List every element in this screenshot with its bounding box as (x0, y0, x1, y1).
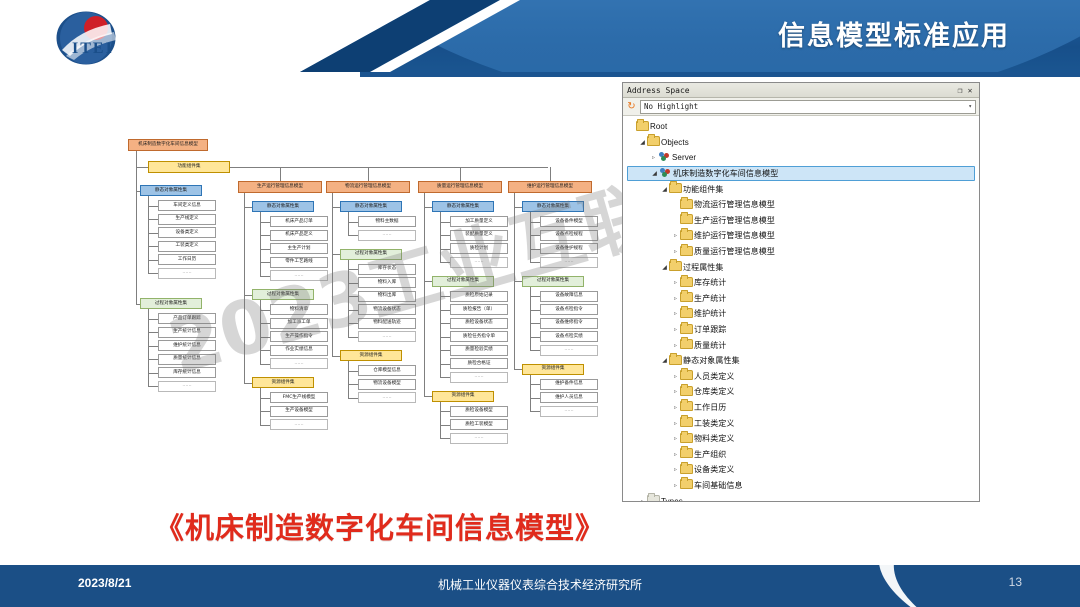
diagram-leaf-node: 质检计划 (450, 243, 508, 254)
connector-line (148, 206, 158, 207)
folder-icon (680, 292, 692, 304)
tree-row-label: 工作日历 (692, 402, 726, 413)
diagram-module-node: 物流运行管理信息模型 (326, 181, 410, 193)
folder-icon (680, 339, 692, 351)
address-space-panel: Address Space ❐ ✕ ↻ No Highlight ▾ Root◢… (622, 82, 980, 502)
connector-line (148, 386, 158, 387)
expander-closed-icon[interactable]: ▹ (671, 326, 680, 333)
tree-row[interactable]: ▹Types (627, 493, 977, 501)
float-icon[interactable]: ❐ (955, 86, 965, 95)
expander-closed-icon[interactable]: ▹ (649, 154, 658, 161)
connector-line (348, 337, 358, 338)
tree-row-label: 车间基础信息 (692, 480, 743, 491)
tree-row-label: 生产统计 (692, 293, 726, 304)
tree-row-label: 功能组件集 (681, 184, 724, 195)
tree-row[interactable]: ▹质量统计 (627, 337, 977, 353)
tree-row-label: 静态对象属性集 (681, 355, 740, 366)
folder-icon (680, 433, 692, 445)
diagram-leaf-node: 库存状态 (358, 264, 416, 275)
diagram-leaf-node: 产品订单跟踪 (158, 313, 216, 324)
folder-icon (636, 121, 648, 133)
tree-row[interactable]: ▹物料类定义 (627, 431, 977, 447)
folder-icon (680, 308, 692, 320)
connector-line (424, 207, 432, 208)
diagram-resource-group: 资源组件集 (340, 350, 402, 361)
connector-line (530, 323, 540, 324)
connector-line (348, 260, 349, 337)
folder-icon (680, 464, 692, 476)
connector-line (514, 281, 522, 282)
diagram-process-group: 过程对象属性集 (522, 276, 584, 287)
expander-open-icon[interactable]: ◢ (660, 186, 669, 193)
connector-line (348, 361, 349, 398)
expander-closed-icon[interactable]: ▹ (671, 279, 680, 286)
diagram-leaf-node: 工装类定义 (158, 241, 216, 252)
tree-row-label: 机床制造数字化车间信息模型 (671, 168, 778, 179)
connector-line (148, 260, 158, 261)
tree-row[interactable]: ▹工作日历 (627, 400, 977, 416)
diagram-node-ellipsis: …… (450, 433, 508, 444)
connector-line (260, 425, 270, 426)
tree-row-label: Objects (659, 138, 689, 147)
connector-line (260, 276, 270, 277)
connector-line (348, 398, 358, 399)
object-node-icon (658, 152, 670, 163)
connector-line (530, 287, 531, 351)
connector-line (348, 296, 358, 297)
connector-line (530, 375, 531, 412)
connector-line (260, 350, 270, 351)
folder-icon (680, 230, 692, 242)
information-model-diagram: 机床制造数字化车间信息模型功能组件集静态对象属性集车间定义信息生产线定义设备类定… (118, 135, 618, 480)
connector-line (368, 167, 369, 181)
folder-icon (680, 401, 692, 413)
connector-line (530, 222, 540, 223)
folder-icon (669, 355, 681, 367)
connector-line (530, 310, 540, 311)
diagram-module-node: 质量运行管理信息模型 (418, 181, 502, 193)
connector-line (530, 262, 540, 263)
highlight-filter-bar: ↻ No Highlight ▾ (623, 98, 979, 116)
diagram-leaf-node: 质检设备状态 (450, 318, 508, 329)
connector-line (260, 262, 270, 263)
diagram-resource-group: 资源组件集 (432, 391, 494, 402)
connector-line (348, 323, 358, 324)
diagram-leaf-node: 质检报告（单） (450, 304, 508, 315)
folder-icon (647, 495, 659, 501)
tree-row[interactable]: ◢过程属性集 (627, 259, 977, 275)
expander-closed-icon[interactable]: ▹ (671, 435, 680, 442)
diagram-node-ellipsis: …… (358, 392, 416, 403)
diagram-leaf-node: 仓库模型信息 (358, 365, 416, 376)
connector-line (424, 193, 425, 396)
connector-line (514, 207, 522, 208)
tree-row[interactable]: ▹库存统计 (627, 275, 977, 291)
tree-row-label: Root (648, 122, 667, 131)
connector-line (280, 167, 281, 181)
connector-line (260, 398, 270, 399)
diagram-leaf-node: 加工质量定义 (450, 216, 508, 227)
connector-line (530, 337, 540, 338)
connector-line (440, 262, 450, 263)
diagram-leaf-node: 车间定义信息 (158, 200, 216, 211)
diagram-leaf-node: 质检设备模型 (450, 406, 508, 417)
diagram-leaf-node: 质检工装模型 (450, 419, 508, 430)
connector-line (440, 212, 441, 262)
diagram-module-node: 维护运行管理信息模型 (508, 181, 592, 193)
connector-line (148, 273, 158, 274)
folder-icon (680, 479, 692, 491)
refresh-icon[interactable]: ↻ (626, 101, 637, 112)
connector-line (260, 323, 270, 324)
itei-logo-icon (40, 8, 160, 68)
connector-line (148, 332, 158, 333)
diagram-leaf-node: 质检任务指令单 (450, 331, 508, 342)
connector-line (348, 371, 358, 372)
expander-closed-icon[interactable]: ▹ (671, 482, 680, 489)
address-space-tree[interactable]: Root◢Objects▹Server◢机床制造数字化车间信息模型◢功能组件集物… (623, 116, 979, 501)
expander-closed-icon[interactable]: ▹ (671, 295, 680, 302)
diagram-leaf-node: 作业实绩信息 (270, 345, 328, 356)
diagram-leaf-node: 生产设备模型 (270, 406, 328, 417)
connector-line (440, 310, 450, 311)
diagram-process-group: 过程对象属性集 (252, 289, 314, 300)
folder-icon (680, 417, 692, 429)
close-icon[interactable]: ✕ (965, 86, 975, 95)
connector-line (530, 296, 540, 297)
tree-row-label: 工装类定义 (692, 418, 735, 429)
diagram-leaf-node: 设备点检指令 (540, 304, 598, 315)
connector-line (530, 398, 540, 399)
connector-line (244, 383, 252, 384)
expander-closed-icon[interactable]: ▹ (671, 388, 680, 395)
connector-line (148, 246, 158, 247)
diagram-leaf-node: FMC生产线模型 (270, 392, 328, 403)
connector-line (514, 193, 515, 369)
connector-line (260, 300, 261, 364)
connector-line (440, 377, 450, 378)
footer-page-number: 13 (1009, 575, 1022, 589)
folder-icon (680, 370, 692, 382)
address-space-title: Address Space (627, 86, 955, 95)
diagram-resource-group: 资源组件集 (252, 377, 314, 388)
diagram-leaf-node: 主生产计划 (270, 243, 328, 254)
tree-row[interactable]: ▹订单跟踪 (627, 322, 977, 338)
connector-line (148, 346, 158, 347)
connector-line (348, 283, 358, 284)
tree-row[interactable]: ▹设备类定义 (627, 462, 977, 478)
tree-row[interactable]: 生产运行管理信息模型 (627, 213, 977, 229)
diagram-leaf-node: 质检合格证 (450, 358, 508, 369)
connector-line (332, 193, 333, 356)
highlight-selected-value: No Highlight (644, 102, 968, 111)
tree-row[interactable]: ▹仓库类定义 (627, 384, 977, 400)
folder-icon (669, 183, 681, 195)
diagram-leaf-node: 加工派工单 (270, 318, 328, 329)
connector-line (424, 396, 432, 397)
diagram-leaf-node: 生产线定义 (158, 214, 216, 225)
diagram-leaf-node: 物料入库 (358, 277, 416, 288)
diagram-process-group: 过程对象属性集 (340, 249, 402, 260)
expander-open-icon[interactable]: ◢ (650, 170, 659, 177)
diagram-node-ellipsis: …… (358, 331, 416, 342)
connector-line (424, 281, 432, 282)
diagram-leaf-node: 工作日历 (158, 254, 216, 265)
folder-icon (669, 261, 681, 273)
connector-line (148, 233, 158, 234)
connector-line (136, 167, 148, 168)
diagram-static-group: 静态对象属性集 (432, 201, 494, 212)
diagram-leaf-node: 设备点检实绩 (540, 331, 598, 342)
diagram-leaf-node: 物流设备状态 (358, 304, 416, 315)
expander-closed-icon[interactable]: ▹ (671, 373, 680, 380)
connector-line (440, 438, 450, 439)
tree-row[interactable]: ▹人员类定义 (627, 369, 977, 385)
expander-closed-icon[interactable]: ▹ (671, 248, 680, 255)
connector-line (440, 337, 450, 338)
connector-line (332, 356, 340, 357)
expander-closed-icon[interactable]: ▹ (671, 232, 680, 239)
diagram-root-node: 机床制造数字化车间信息模型 (128, 139, 208, 151)
connector-line (332, 254, 340, 255)
connector-line (148, 319, 158, 320)
diagram-leaf-node: 库存统计信息 (158, 367, 216, 378)
folder-icon (647, 136, 659, 148)
tree-row-label: 物料类定义 (692, 433, 735, 444)
diagram-node-ellipsis: …… (270, 419, 328, 430)
connector-line (550, 167, 551, 181)
connector-line (148, 219, 158, 220)
diagram-node-ellipsis: …… (358, 230, 416, 241)
tree-row[interactable]: ◢Objects (627, 135, 977, 151)
connector-line (530, 411, 540, 412)
tree-row[interactable]: ◢机床制造数字化车间信息模型 (627, 166, 975, 182)
connector-line (440, 402, 441, 439)
diagram-node-ellipsis: …… (158, 381, 216, 392)
tree-row-label: 库存统计 (692, 277, 726, 288)
connector-line (136, 151, 137, 167)
folder-icon (680, 448, 692, 460)
expander-closed-icon[interactable]: ▹ (671, 451, 680, 458)
diagram-resource-group: 资源组件集 (522, 364, 584, 375)
connector-line (136, 304, 140, 305)
diagram-leaf-node: 质量统计信息 (158, 354, 216, 365)
connector-line (348, 310, 358, 311)
tree-row[interactable]: ◢功能组件集 (627, 181, 977, 197)
connector-line (332, 207, 340, 208)
diagram-node-ellipsis: …… (540, 345, 598, 356)
connector-line (244, 295, 252, 296)
connector-line (440, 323, 450, 324)
folder-icon (680, 214, 692, 226)
diagram-leaf-node: 质检原始记录 (450, 291, 508, 302)
diagram-node-ellipsis: …… (540, 257, 598, 268)
tree-row[interactable]: Root (627, 119, 977, 135)
diagram-module-node: 生产运行管理信息模型 (238, 181, 322, 193)
expander-closed-icon[interactable]: ▹ (671, 310, 680, 317)
diagram-leaf-node: 物流设备模型 (358, 379, 416, 390)
connector-line (260, 337, 270, 338)
diagram-leaf-node: 零件工艺路线 (270, 257, 328, 268)
connector-line (440, 287, 441, 378)
connector-line (148, 373, 158, 374)
expander-closed-icon[interactable]: ▹ (671, 342, 680, 349)
folder-icon (680, 386, 692, 398)
folder-icon (680, 199, 692, 211)
connector-line (148, 359, 158, 360)
diagram-leaf-node: 生产统计信息 (158, 327, 216, 338)
folder-icon (680, 277, 692, 289)
connector-line (148, 196, 149, 273)
expander-open-icon[interactable]: ◢ (660, 264, 669, 271)
diagram-node-ellipsis: …… (158, 268, 216, 279)
diagram-leaf-node: 机床产品订单 (270, 216, 328, 227)
connector-line (530, 212, 531, 262)
tree-row-label: 人员类定义 (692, 371, 735, 382)
expander-closed-icon[interactable]: ▹ (638, 498, 647, 501)
diagram-leaf-node: 设备维护规程 (540, 243, 598, 254)
connector-line (440, 425, 450, 426)
tree-row[interactable]: 物流运行管理信息模型 (627, 197, 977, 213)
diagram-caption: 《机床制造数字化车间信息模型》 (0, 505, 760, 547)
diagram-leaf-node: 机床产品定义 (270, 230, 328, 241)
tree-row-label: 订单跟踪 (692, 324, 726, 335)
expander-closed-icon[interactable]: ▹ (671, 466, 680, 473)
connector-line (230, 167, 548, 168)
expander-closed-icon[interactable]: ▹ (671, 420, 680, 427)
tree-row-label: 过程属性集 (681, 262, 724, 273)
diagram-function-set-node: 功能组件集 (148, 161, 230, 173)
chevron-down-icon: ▾ (968, 103, 972, 110)
connector-line (514, 369, 522, 370)
connector-line (244, 207, 252, 208)
tree-row[interactable]: ▹Server (627, 150, 977, 166)
connector-line (348, 235, 358, 236)
slide-footer: 2023/8/21 机械工业仪器仪表综合技术经济研究所 13 (0, 565, 1080, 607)
diagram-static-group: 静态对象属性集 (340, 201, 402, 212)
diagram-leaf-node: 设备类定义 (158, 227, 216, 238)
connector-line (440, 350, 450, 351)
connector-line (440, 222, 450, 223)
tree-row-label: 质量运行管理信息模型 (692, 246, 775, 257)
diagram-node-ellipsis: …… (450, 372, 508, 383)
diagram-leaf-node: 维护备件信息 (540, 379, 598, 390)
diagram-leaf-node: 物料出库 (358, 291, 416, 302)
connector-line (530, 235, 540, 236)
connector-line (244, 193, 245, 383)
tree-row-label: 质量统计 (692, 340, 726, 351)
connector-line (440, 249, 450, 250)
diagram-static-group: 静态对象属性集 (252, 201, 314, 212)
page-title: 信息模型标准应用 (778, 14, 1010, 53)
tree-row-label: 维护统计 (692, 308, 726, 319)
diagram-leaf-node: 物料主数据 (358, 216, 416, 227)
folder-icon (680, 324, 692, 336)
connector-line (348, 212, 349, 235)
diagram-leaf-node: 装配质量定义 (450, 230, 508, 241)
tree-row-label: 设备类定义 (692, 464, 735, 475)
diagram-node-ellipsis: …… (270, 270, 328, 281)
expander-closed-icon[interactable]: ▹ (671, 404, 680, 411)
tree-row[interactable]: ▹生产组织 (627, 446, 977, 462)
connector-line (148, 309, 149, 386)
tree-row[interactable]: ▹维护运行管理信息模型 (627, 228, 977, 244)
connector-line (260, 411, 270, 412)
object-node-icon (659, 168, 671, 179)
connector-line (348, 269, 358, 270)
tree-row[interactable]: ▹生产统计 (627, 291, 977, 307)
tree-row[interactable]: ▹工装类定义 (627, 415, 977, 431)
tree-row-label: 生产组织 (692, 449, 726, 460)
tree-row-label: Server (670, 153, 696, 162)
highlight-select[interactable]: No Highlight ▾ (640, 100, 976, 114)
tree-row[interactable]: ▹维护统计 (627, 306, 977, 322)
slide-header: 信息模型标准应用 (0, 0, 1080, 72)
tree-row-label: 生产运行管理信息模型 (692, 215, 775, 226)
diagram-node-ellipsis: …… (450, 257, 508, 268)
expander-open-icon[interactable]: ◢ (638, 139, 647, 146)
connector-line (530, 249, 540, 250)
diagram-leaf-node: 物料配送轨迹 (358, 318, 416, 329)
connector-line (136, 167, 137, 304)
connector-line (260, 364, 270, 365)
tree-row-label: Types (659, 497, 683, 501)
diagram-node-ellipsis: …… (270, 358, 328, 369)
connector-line (440, 235, 450, 236)
connector-line (460, 167, 461, 181)
connector-line (260, 249, 270, 250)
diagram-leaf-node: 设备故障信息 (540, 291, 598, 302)
header-underline-left (0, 72, 360, 77)
connector-line (440, 296, 450, 297)
connector-line (260, 212, 261, 276)
connector-line (260, 310, 270, 311)
footer-organization: 机械工业仪器仪表综合技术经济研究所 (0, 576, 1080, 593)
diagram-static-group: 静态对象属性集 (522, 201, 584, 212)
connector-line (260, 222, 270, 223)
diagram-leaf-node: 维护人员信息 (540, 392, 598, 403)
tree-row-label: 仓库类定义 (692, 386, 735, 397)
diagram-process-group: 过程对象属性集 (140, 298, 202, 309)
diagram-leaf-node: 生产操作指令 (270, 331, 328, 342)
diagram-process-group: 过程对象属性集 (432, 276, 494, 287)
diagram-leaf-node: 物料清单 (270, 304, 328, 315)
diagram-leaf-node: 质量检验实绩 (450, 345, 508, 356)
connector-line (348, 222, 358, 223)
connector-line (260, 388, 261, 425)
tree-row[interactable]: ▹质量运行管理信息模型 (627, 244, 977, 260)
tree-row-label: 物流运行管理信息模型 (692, 199, 775, 210)
diagram-leaf-node: 设备点检规程 (540, 230, 598, 241)
diagram-leaf-node: 维护统计信息 (158, 340, 216, 351)
diagram-node-ellipsis: …… (540, 406, 598, 417)
diagram-leaf-node: 设备备件模型 (540, 216, 598, 227)
diagram-leaf-node: 设备维修指令 (540, 318, 598, 329)
logo-text: ITEI (72, 40, 114, 58)
connector-line (440, 364, 450, 365)
folder-icon (680, 246, 692, 258)
tree-row[interactable]: ▹车间基础信息 (627, 478, 977, 494)
connector-line (260, 235, 270, 236)
diagram-static-group: 静态对象属性集 (140, 185, 202, 196)
address-space-titlebar: Address Space ❐ ✕ (623, 83, 979, 98)
expander-open-icon[interactable]: ◢ (660, 357, 669, 364)
tree-row[interactable]: ◢静态对象属性集 (627, 353, 977, 369)
connector-line (440, 411, 450, 412)
connector-line (348, 384, 358, 385)
connector-line (530, 384, 540, 385)
slide: 信息模型标准应用 ITEI 机床制造数字化车间信息模型功能组件集静态对象属性集车… (0, 0, 1080, 607)
